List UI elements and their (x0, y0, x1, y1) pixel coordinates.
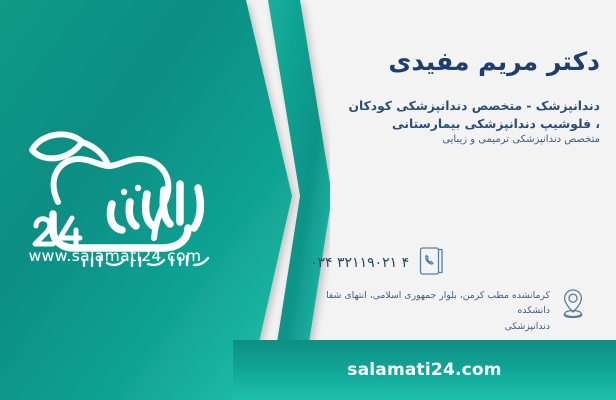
doctor-specialty-secondary: متخصص دندانپزشکی ترمیمی و زیبایی (310, 133, 600, 147)
footer-website[interactable]: salamati24.com (233, 340, 616, 400)
map-pin-icon (560, 288, 586, 318)
doctor-specialty-primary: دندانپزشک - متخصص دندانپزشکی کودکان ، فل… (310, 98, 600, 134)
address-line-1: کرمانشده مطب کرمن، بلوار جمهوری اسلامی، … (326, 290, 550, 316)
phone-book-icon (419, 246, 445, 276)
address-text: کرمانشده مطب کرمن، بلوار جمهوری اسلامی، … (310, 288, 550, 334)
doctor-name: دکتر مریم مفیدی (310, 48, 600, 77)
specialty-line-1: دندانپزشک - متخصص دندانپزشکی کودکان (310, 98, 600, 116)
phone-row[interactable]: ۴ ۳۲۱۱۹۰۲۱ ۰۳۴ (310, 246, 602, 276)
address-line-2: دندانپزشکی (505, 321, 550, 332)
address-row[interactable]: کرمانشده مطب کرمن، بلوار جمهوری اسلامی، … (310, 288, 602, 334)
phone-number: ۴ ۳۲۱۱۹۰۲۱ ۰۳۴ (310, 252, 409, 271)
business-card: www.salamati24.com دکتر مریم مفیدی دندان… (0, 0, 616, 400)
footer-bar: salamati24.com (0, 340, 616, 400)
logo-website-url: www.salamati24.com (10, 247, 220, 265)
specialty-line-2: ، فلوشیپ دندانپزشکی بیمارستانی (310, 116, 600, 134)
